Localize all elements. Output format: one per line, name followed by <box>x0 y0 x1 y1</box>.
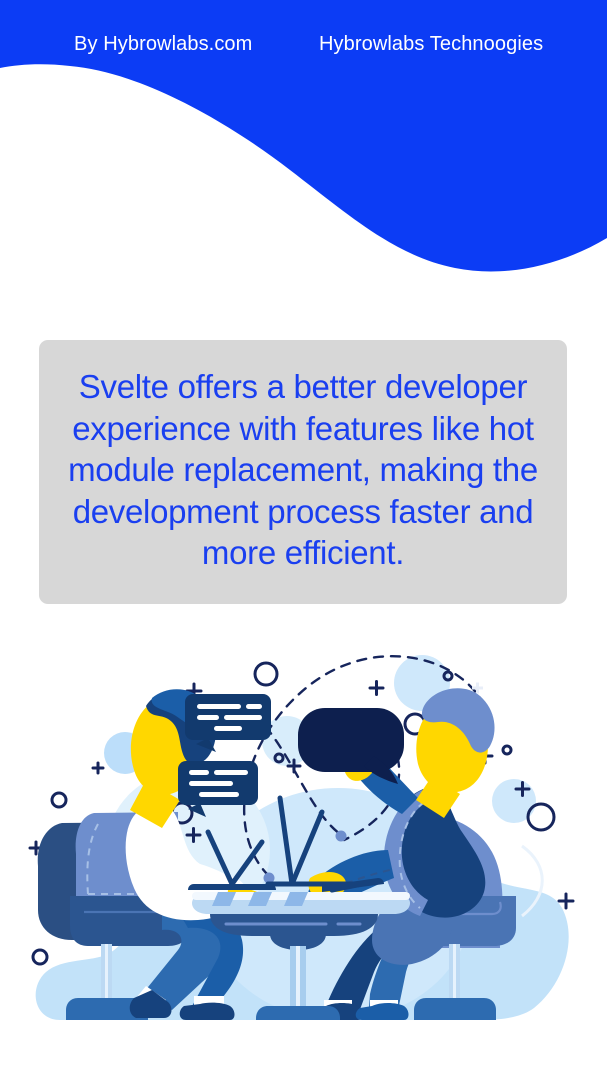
right-chair-base <box>414 998 496 1020</box>
quote-text: Svelte offers a better developer experie… <box>47 366 559 574</box>
bubble-line <box>199 792 239 797</box>
dot-arc-end-mid <box>336 831 347 842</box>
bubble-line <box>224 715 262 720</box>
header-brand-text: Hybrowlabs Technoogies <box>319 33 543 56</box>
table-base <box>256 1006 340 1020</box>
bubble-line <box>197 704 241 709</box>
bubble-line <box>214 770 248 775</box>
bubble-line <box>189 770 209 775</box>
bubble-line <box>214 726 242 731</box>
header-credit-text: By Hybrowlabs.com <box>74 33 252 56</box>
table-top-stripes <box>212 892 308 906</box>
bubble-line <box>197 715 219 720</box>
laptop-left-base <box>188 884 276 890</box>
right-chair-post-line <box>453 944 456 998</box>
illustration-two-developers <box>22 628 585 1032</box>
table-column-line <box>296 946 300 1006</box>
chat-bubble-small-top <box>185 694 271 752</box>
left-chair-post-line <box>105 944 108 998</box>
header-bar: By Hybrowlabs.com Hybrowlabs Technoogies <box>0 0 607 90</box>
bubble-line <box>189 781 233 786</box>
bubble-line <box>246 704 262 709</box>
quote-card: Svelte offers a better developer experie… <box>39 340 567 604</box>
